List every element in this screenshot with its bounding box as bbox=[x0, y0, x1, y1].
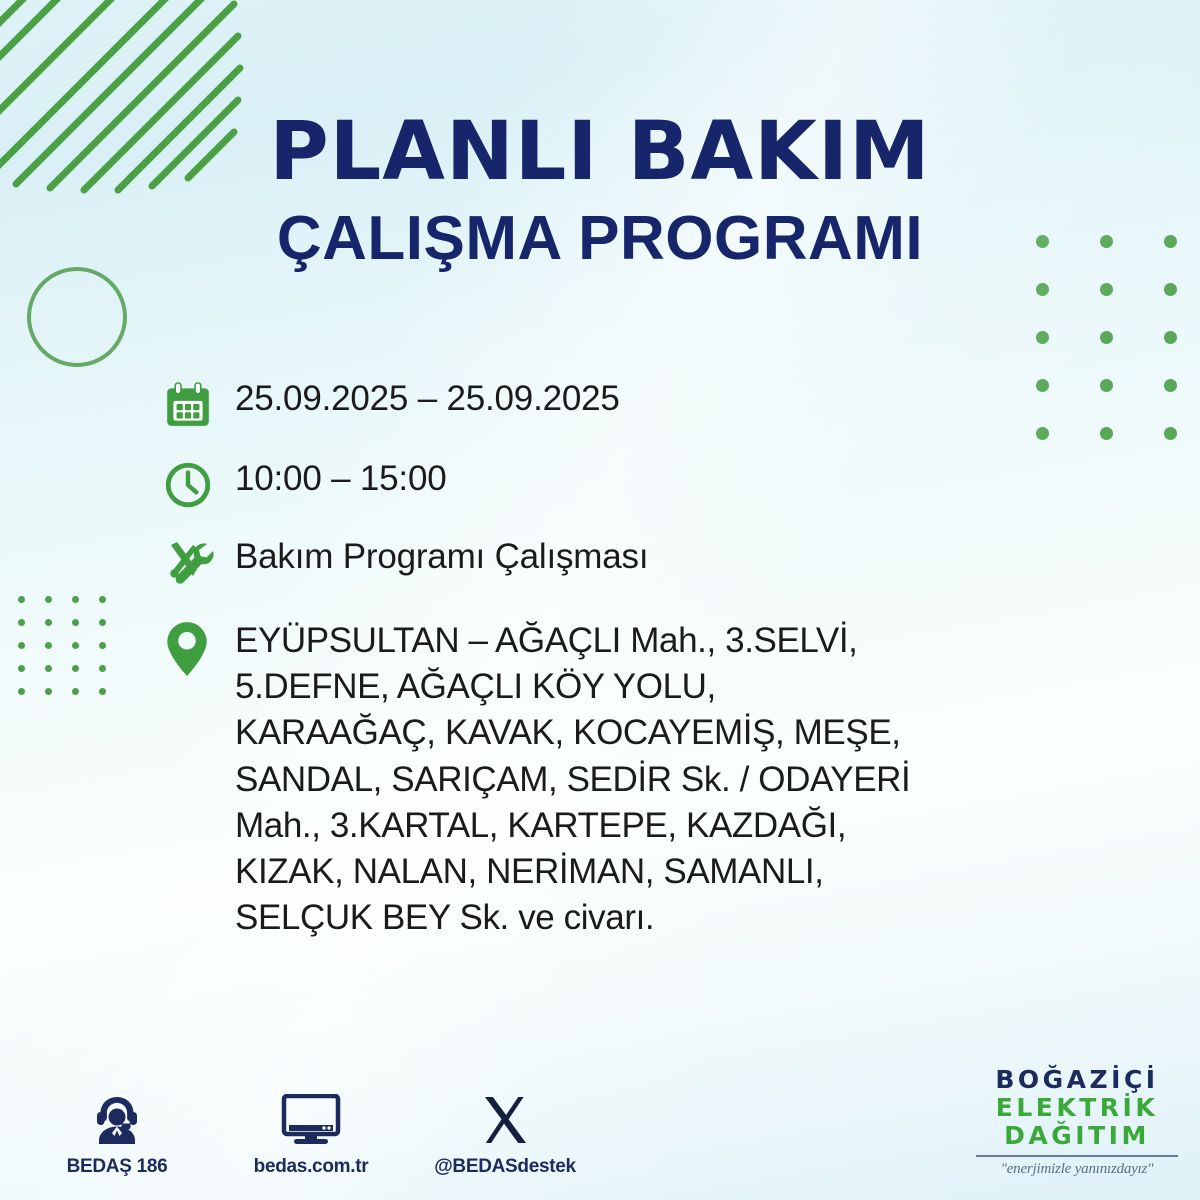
map-pin-icon bbox=[163, 618, 235, 678]
info-row-work-type: Bakım Programı Çalışması bbox=[163, 536, 1063, 588]
grid-dot bbox=[45, 688, 52, 695]
tools-icon bbox=[163, 536, 235, 588]
grid-dot bbox=[1164, 379, 1177, 392]
grid-dot bbox=[99, 596, 106, 603]
brand-divider bbox=[976, 1155, 1178, 1157]
contact-label: @BEDASdestek bbox=[434, 1156, 576, 1178]
brand-line-2: ELEKTRİK bbox=[972, 1094, 1182, 1122]
info-row-location: EYÜPSULTAN – AĞAÇLI Mah., 3.SELVİ, 5.DEF… bbox=[163, 618, 1063, 941]
grid-dot bbox=[18, 619, 25, 626]
grid-dot bbox=[1036, 283, 1049, 296]
grid-dot bbox=[1164, 331, 1177, 344]
contact-label: BEDAŞ 186 bbox=[67, 1156, 168, 1178]
grid-dot bbox=[72, 665, 79, 672]
grid-dot bbox=[18, 665, 25, 672]
grid-dot bbox=[1036, 331, 1049, 344]
grid-dot bbox=[1100, 379, 1113, 392]
brand-logo: BOĞAZİÇİ ELEKTRİK DAĞITIM "enerjimizle y… bbox=[972, 1066, 1182, 1178]
brand-line-1: BOĞAZİÇİ bbox=[972, 1066, 1182, 1094]
dot-grid-left-decoration bbox=[18, 596, 126, 711]
footer-contacts: BEDAŞ 186 bedas.com.tr @B bbox=[48, 1088, 574, 1178]
grid-dot bbox=[45, 619, 52, 626]
grid-dot bbox=[99, 688, 106, 695]
decorative-circle-outline bbox=[27, 267, 127, 367]
monitor-icon bbox=[281, 1088, 341, 1146]
x-twitter-icon bbox=[479, 1088, 531, 1146]
contact-call-center[interactable]: BEDAŞ 186 bbox=[48, 1088, 186, 1178]
time-range-value: 10:00 – 15:00 bbox=[235, 458, 447, 500]
grid-dot bbox=[1164, 427, 1177, 440]
clock-icon bbox=[163, 458, 235, 510]
location-line: KIZAK, NALAN, NERİMAN, SAMANLI, bbox=[235, 849, 910, 895]
headset-support-icon bbox=[90, 1088, 144, 1146]
brand-line-3: DAĞITIM bbox=[972, 1122, 1182, 1150]
location-line: SANDAL, SARIÇAM, SEDİR Sk. / ODAYERİ bbox=[235, 757, 910, 803]
grid-dot bbox=[72, 688, 79, 695]
grid-dot bbox=[45, 642, 52, 649]
location-line: EYÜPSULTAN – AĞAÇLI Mah., 3.SELVİ, bbox=[235, 618, 910, 664]
brand-tagline: "enerjimizle yanınızdayız" bbox=[972, 1161, 1182, 1178]
contact-social-x[interactable]: @BEDASdestek bbox=[436, 1088, 574, 1178]
grid-dot bbox=[72, 596, 79, 603]
poster-header: PLANLI BAKIM ÇALIŞMA PROGRAMI bbox=[0, 112, 1200, 274]
grid-dot bbox=[18, 642, 25, 649]
work-type-value: Bakım Programı Çalışması bbox=[235, 536, 648, 578]
location-line: KARAAĞAÇ, KAVAK, KOCAYEMİŞ, MEŞE, bbox=[235, 710, 910, 756]
info-block: 25.09.2025 – 25.09.2025 10:00 – 15:00 bbox=[163, 378, 1063, 959]
grid-dot bbox=[1100, 331, 1113, 344]
grid-dot bbox=[45, 665, 52, 672]
location-line: Mah., 3.KARTAL, KARTEPE, KAZDAĞI, bbox=[235, 803, 910, 849]
grid-dot bbox=[18, 688, 25, 695]
date-range-value: 25.09.2025 – 25.09.2025 bbox=[235, 378, 620, 420]
grid-dot bbox=[1164, 283, 1177, 296]
info-row-time: 10:00 – 15:00 bbox=[163, 458, 1063, 510]
grid-dot bbox=[99, 619, 106, 626]
location-line: SELÇUK BEY Sk. ve civarı. bbox=[235, 895, 910, 941]
grid-dot bbox=[99, 642, 106, 649]
grid-dot bbox=[72, 619, 79, 626]
poster-canvas: PLANLI BAKIM ÇALIŞMA PROGRAMI bbox=[0, 0, 1200, 1200]
location-line: 5.DEFNE, AĞAÇLI KÖY YOLU, bbox=[235, 664, 910, 710]
page-title: PLANLI BAKIM bbox=[0, 112, 1200, 193]
contact-label: bedas.com.tr bbox=[254, 1156, 369, 1178]
grid-dot bbox=[72, 642, 79, 649]
location-value: EYÜPSULTAN – AĞAÇLI Mah., 3.SELVİ, 5.DEF… bbox=[235, 618, 910, 941]
page-subtitle: ÇALIŞMA PROGRAMI bbox=[0, 203, 1200, 274]
grid-dot bbox=[45, 596, 52, 603]
grid-dot bbox=[1100, 427, 1113, 440]
contact-website[interactable]: bedas.com.tr bbox=[242, 1088, 380, 1178]
info-row-date: 25.09.2025 – 25.09.2025 bbox=[163, 378, 1063, 430]
grid-dot bbox=[1100, 283, 1113, 296]
grid-dot bbox=[18, 596, 25, 603]
calendar-icon bbox=[163, 378, 235, 430]
grid-dot bbox=[99, 665, 106, 672]
